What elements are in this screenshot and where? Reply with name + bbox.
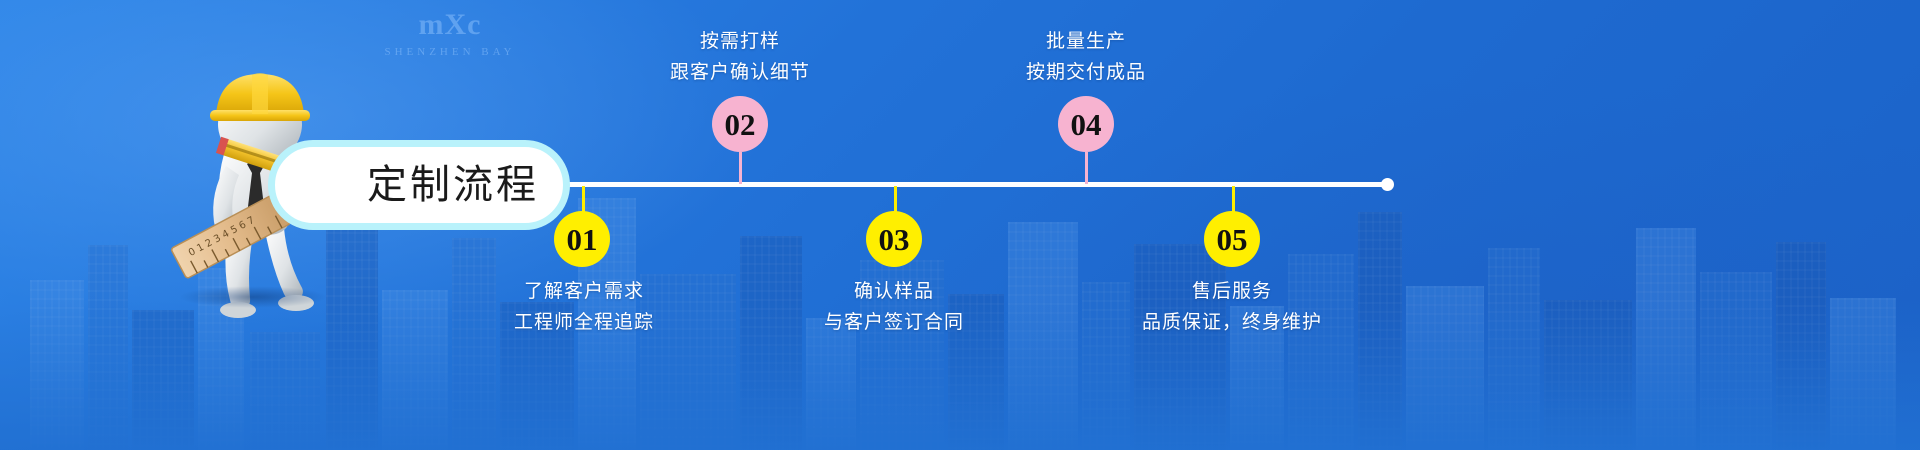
step-03-badge[interactable]: 03	[866, 211, 922, 267]
step-03-stem	[894, 186, 897, 212]
step-05-line-2: 品质保证，终身维护	[1080, 307, 1384, 338]
step-03-caption: 确认样品 与客户签订合同	[742, 276, 1046, 338]
step-01-caption: 了解客户需求 工程师全程追踪	[432, 276, 736, 338]
step-04-caption: 批量生产 按期交付成品	[934, 26, 1238, 88]
step-01-line-1: 了解客户需求	[432, 276, 736, 307]
step-01-badge[interactable]: 01	[554, 211, 610, 267]
step-03-number: 03	[879, 224, 910, 255]
step-01-stem	[582, 186, 585, 212]
step-03-line-2: 与客户签订合同	[742, 307, 1046, 338]
watermark-subtitle: SHENZHEN BAY	[335, 46, 565, 58]
process-title-pill: 定制流程	[268, 140, 570, 230]
step-02-number: 02	[725, 109, 756, 140]
step-04-line-1: 批量生产	[934, 26, 1238, 57]
step-05-number: 05	[1217, 224, 1248, 255]
step-04-number: 04	[1071, 109, 1102, 140]
step-04-stem	[1085, 152, 1088, 184]
step-02-stem	[739, 152, 742, 184]
custom-process-banner: mXc SHENZHEN BAY	[0, 0, 1920, 450]
timeline-end-dot	[1381, 178, 1394, 191]
step-05-caption: 售后服务 品质保证，终身维护	[1080, 276, 1384, 338]
timeline-track	[470, 182, 1390, 187]
step-02-badge[interactable]: 02	[712, 96, 768, 152]
step-04-badge[interactable]: 04	[1058, 96, 1114, 152]
step-05-stem	[1232, 186, 1235, 212]
mascot-shadow	[178, 286, 328, 308]
background-watermark: mXc SHENZHEN BAY	[335, 8, 565, 118]
step-01-line-2: 工程师全程追踪	[432, 307, 736, 338]
step-02-caption: 按需打样 跟客户确认细节	[588, 26, 892, 88]
step-05-badge[interactable]: 05	[1204, 211, 1260, 267]
step-04-line-2: 按期交付成品	[934, 57, 1238, 88]
step-02-line-1: 按需打样	[588, 26, 892, 57]
step-05-line-1: 售后服务	[1080, 276, 1384, 307]
step-01-number: 01	[567, 224, 598, 255]
step-02-line-2: 跟客户确认细节	[588, 57, 892, 88]
page-title: 定制流程	[367, 165, 539, 205]
watermark-logo: mXc	[335, 8, 565, 42]
step-03-line-1: 确认样品	[742, 276, 1046, 307]
